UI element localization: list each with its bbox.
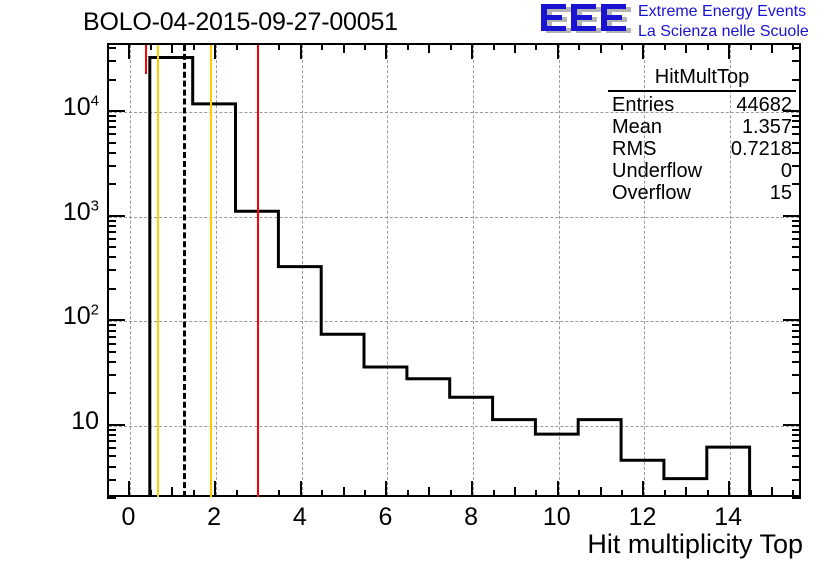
histogram-series (0, 0, 836, 572)
orange-line-left (157, 45, 159, 497)
red-line-right (257, 45, 259, 497)
orange-line-right (210, 45, 212, 497)
plot-canvas: BOLO-04-2015-09-27-00051 Extreme Energy … (0, 0, 836, 572)
histogram-outline (150, 58, 750, 498)
dashed-mean-line (183, 45, 186, 497)
red-line-left (145, 45, 147, 74)
